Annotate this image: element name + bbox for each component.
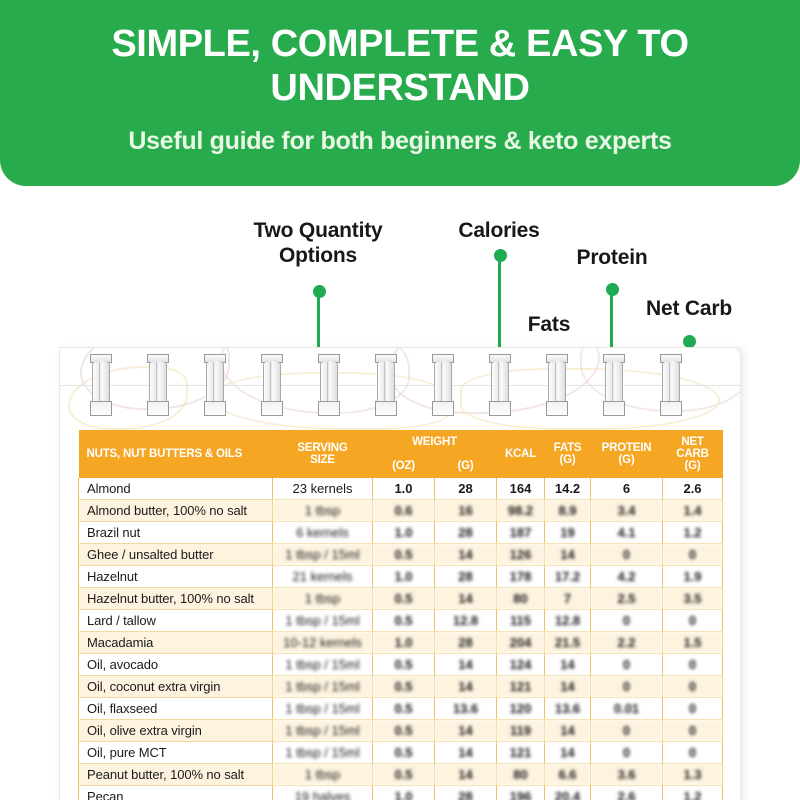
cell-food-name: Oil, pure MCT xyxy=(79,742,273,764)
cell-protein: 2.5 xyxy=(591,588,663,610)
spiral-ring xyxy=(487,354,513,416)
column-header-protein: PROTEIN (G) xyxy=(591,430,663,478)
cell-kcal: 115 xyxy=(497,610,545,632)
cell-fats: 8.9 xyxy=(545,500,591,522)
cell-protein: 0 xyxy=(591,544,663,566)
table-row: Pecan19 halves1.02819620.42.61.2 xyxy=(79,786,723,800)
cell-food-name: Almond xyxy=(79,478,273,500)
cell-food-name: Hazelnut butter, 100% no salt xyxy=(79,588,273,610)
cell-protein: 0 xyxy=(591,676,663,698)
annotation-label-net-carb: Net Carb xyxy=(620,296,758,321)
table-row: Peanut butter, 100% no salt1 tbsp0.51480… xyxy=(79,764,723,786)
cell-g: 14 xyxy=(435,742,497,764)
cell-oz: 1.0 xyxy=(373,786,435,800)
hero-banner: SIMPLE, COMPLETE & EASY TO UNDERSTAND Us… xyxy=(0,0,800,186)
annotation-dot-top-protein xyxy=(606,283,619,296)
spiral-ring xyxy=(88,354,114,416)
cell-netcarb: 1.5 xyxy=(663,632,723,654)
annotation-dot-top-kcal xyxy=(494,249,507,262)
cell-netcarb: 1.2 xyxy=(663,786,723,800)
table-row: Macadamia10-12 kernels1.02820421.52.21.5 xyxy=(79,632,723,654)
nutrition-table: NUTS, NUT BUTTERS & OILS SERVING SIZE WE… xyxy=(78,430,723,800)
cell-protein: 4.1 xyxy=(591,522,663,544)
cell-protein: 3.4 xyxy=(591,500,663,522)
cell-g: 14 xyxy=(435,764,497,786)
cell-netcarb: 0 xyxy=(663,676,723,698)
cell-fats: 14 xyxy=(545,742,591,764)
cell-protein: 0 xyxy=(591,720,663,742)
cell-food-name: Oil, flaxseed xyxy=(79,698,273,720)
page-subtitle: Useful guide for both beginners & keto e… xyxy=(0,126,800,156)
table-row: Hazelnut butter, 100% no salt1 tbsp0.514… xyxy=(79,588,723,610)
cell-g: 12.8 xyxy=(435,610,497,632)
cell-kcal: 80 xyxy=(497,764,545,786)
cell-g: 28 xyxy=(435,632,497,654)
cell-netcarb: 0 xyxy=(663,654,723,676)
cell-protein: 0 xyxy=(591,654,663,676)
spiral-ring xyxy=(373,354,399,416)
cell-serving: 6 kernels xyxy=(273,522,373,544)
cell-fats: 7 xyxy=(545,588,591,610)
spiral-ring xyxy=(316,354,342,416)
table-header-row: NUTS, NUT BUTTERS & OILS SERVING SIZE WE… xyxy=(79,430,723,454)
cell-food-name: Oil, olive extra virgin xyxy=(79,720,273,742)
column-header-serving-size: SERVING SIZE xyxy=(273,430,373,478)
cell-food-name: Peanut butter, 100% no salt xyxy=(79,764,273,786)
table-row: Oil, coconut extra virgin1 tbsp / 15ml0.… xyxy=(79,676,723,698)
table-body: Almond23 kernels1.02816414.262.6Almond b… xyxy=(79,478,723,800)
cell-g: 14 xyxy=(435,544,497,566)
cell-protein: 0 xyxy=(591,610,663,632)
cell-protein: 4.2 xyxy=(591,566,663,588)
cell-netcarb: 0 xyxy=(663,544,723,566)
cell-serving: 1 tbsp / 15ml xyxy=(273,544,373,566)
cell-food-name: Pecan xyxy=(79,786,273,800)
cell-serving: 1 tbsp xyxy=(273,764,373,786)
cell-serving: 19 halves xyxy=(273,786,373,800)
cell-kcal: 187 xyxy=(497,522,545,544)
cell-fats: 20.4 xyxy=(545,786,591,800)
column-header-food: NUTS, NUT BUTTERS & OILS xyxy=(79,430,273,478)
cell-oz: 1.0 xyxy=(373,566,435,588)
cell-food-name: Oil, coconut extra virgin xyxy=(79,676,273,698)
cell-kcal: 119 xyxy=(497,720,545,742)
annotation-label-calories: Calories xyxy=(438,218,560,243)
cell-kcal: 80 xyxy=(497,588,545,610)
spiral-ring xyxy=(202,354,228,416)
cell-kcal: 126 xyxy=(497,544,545,566)
cell-fats: 14 xyxy=(545,654,591,676)
cell-fats: 21.5 xyxy=(545,632,591,654)
cell-serving: 1 tbsp xyxy=(273,588,373,610)
cell-fats: 12.8 xyxy=(545,610,591,632)
cell-food-name: Brazil nut xyxy=(79,522,273,544)
cell-g: 16 xyxy=(435,500,497,522)
cell-netcarb: 3.5 xyxy=(663,588,723,610)
cell-g: 28 xyxy=(435,566,497,588)
cell-oz: 0.5 xyxy=(373,544,435,566)
cell-oz: 1.0 xyxy=(373,632,435,654)
cell-kcal: 204 xyxy=(497,632,545,654)
cell-g: 14 xyxy=(435,588,497,610)
cell-fats: 14.2 xyxy=(545,478,591,500)
cell-serving: 23 kernels xyxy=(273,478,373,500)
cell-protein: 3.6 xyxy=(591,764,663,786)
cell-fats: 13.6 xyxy=(545,698,591,720)
cell-netcarb: 0 xyxy=(663,720,723,742)
cell-serving: 1 tbsp / 15ml xyxy=(273,676,373,698)
cell-fats: 17.2 xyxy=(545,566,591,588)
serving-head-line2: SIZE xyxy=(275,454,371,466)
cell-serving: 1 tbsp / 15ml xyxy=(273,720,373,742)
fats-head-line1: FATS xyxy=(547,442,589,454)
spiral-ring xyxy=(145,354,171,416)
cell-g: 28 xyxy=(435,478,497,500)
nutrition-guide-page: NUTS, NUT BUTTERS & OILS SERVING SIZE WE… xyxy=(60,348,740,800)
spiral-ring xyxy=(259,354,285,416)
cell-kcal: 124 xyxy=(497,654,545,676)
cell-oz: 0.5 xyxy=(373,676,435,698)
cell-netcarb: 1.3 xyxy=(663,764,723,786)
cell-g: 13.6 xyxy=(435,698,497,720)
cell-netcarb: 1.9 xyxy=(663,566,723,588)
cell-oz: 0.5 xyxy=(373,610,435,632)
cell-kcal: 121 xyxy=(497,742,545,764)
annotation-label-fats: Fats xyxy=(500,312,598,337)
cell-fats: 14 xyxy=(545,544,591,566)
cell-kcal: 120 xyxy=(497,698,545,720)
cell-food-name: Oil, avocado xyxy=(79,654,273,676)
fats-head-line2: (G) xyxy=(547,454,589,466)
spiral-ring xyxy=(658,354,684,416)
table-row: Oil, flaxseed1 tbsp / 15ml0.513.612013.6… xyxy=(79,698,723,720)
cell-g: 14 xyxy=(435,676,497,698)
annotation-dot-top-net-carb xyxy=(683,335,696,348)
column-header-net-carb: NET CARB (G) xyxy=(663,430,723,478)
cell-oz: 0.5 xyxy=(373,764,435,786)
netcarb-head-line2: (G) xyxy=(665,460,721,472)
cell-oz: 0.5 xyxy=(373,654,435,676)
cell-oz: 0.5 xyxy=(373,588,435,610)
table-row: Hazelnut21 kernels1.02817817.24.21.9 xyxy=(79,566,723,588)
cell-food-name: Ghee / unsalted butter xyxy=(79,544,273,566)
cell-oz: 0.6 xyxy=(373,500,435,522)
column-header-weight-oz: (OZ) xyxy=(373,454,435,478)
table-row: Ghee / unsalted butter1 tbsp / 15ml0.514… xyxy=(79,544,723,566)
cell-kcal: 164 xyxy=(497,478,545,500)
cell-serving: 21 kernels xyxy=(273,566,373,588)
page-title: SIMPLE, COMPLETE & EASY TO UNDERSTAND xyxy=(0,22,800,110)
annotation-label-protein: Protein xyxy=(552,245,672,270)
cell-oz: 0.5 xyxy=(373,698,435,720)
cell-netcarb: 0 xyxy=(663,698,723,720)
cell-protein: 2.2 xyxy=(591,632,663,654)
cell-serving: 1 tbsp / 15ml xyxy=(273,698,373,720)
cell-fats: 19 xyxy=(545,522,591,544)
netcarb-head-line1: NET CARB xyxy=(665,436,721,460)
cell-fats: 14 xyxy=(545,676,591,698)
cell-fats: 6.6 xyxy=(545,764,591,786)
table-row: Oil, pure MCT1 tbsp / 15ml0.5141211400 xyxy=(79,742,723,764)
column-header-weight-group: WEIGHT xyxy=(373,430,497,454)
cell-g: 28 xyxy=(435,786,497,800)
serving-head-line1: SERVING xyxy=(275,442,371,454)
column-header-weight-g: (G) xyxy=(435,454,497,478)
cell-serving: 10-12 kernels xyxy=(273,632,373,654)
cell-g: 14 xyxy=(435,720,497,742)
cell-food-name: Macadamia xyxy=(79,632,273,654)
cell-oz: 0.5 xyxy=(373,720,435,742)
spiral-ring xyxy=(601,354,627,416)
table-row: Oil, olive extra virgin1 tbsp / 15ml0.51… xyxy=(79,720,723,742)
cell-food-name: Almond butter, 100% no salt xyxy=(79,500,273,522)
table-row: Almond23 kernels1.02816414.262.6 xyxy=(79,478,723,500)
annotation-label-two-quantity-options: Two Quantity Options xyxy=(238,218,398,268)
table-row: Almond butter, 100% no salt1 tbsp0.61698… xyxy=(79,500,723,522)
cell-protein: 0 xyxy=(591,742,663,764)
cell-netcarb: 1.4 xyxy=(663,500,723,522)
cell-netcarb: 1.2 xyxy=(663,522,723,544)
cell-g: 28 xyxy=(435,522,497,544)
protein-head-line2: (G) xyxy=(593,454,661,466)
cell-serving: 1 tbsp / 15ml xyxy=(273,742,373,764)
cell-food-name: Hazelnut xyxy=(79,566,273,588)
table-row: Lard / tallow1 tbsp / 15ml0.512.811512.8… xyxy=(79,610,723,632)
cell-kcal: 98.2 xyxy=(497,500,545,522)
cell-netcarb: 0 xyxy=(663,610,723,632)
cell-oz: 1.0 xyxy=(373,522,435,544)
cell-kcal: 121 xyxy=(497,676,545,698)
annotation-dot-top-serving-size xyxy=(313,285,326,298)
cell-kcal: 178 xyxy=(497,566,545,588)
cell-oz: 1.0 xyxy=(373,478,435,500)
table-row: Brazil nut6 kernels1.028187194.11.2 xyxy=(79,522,723,544)
cell-kcal: 196 xyxy=(497,786,545,800)
table-row: Oil, avocado1 tbsp / 15ml0.5141241400 xyxy=(79,654,723,676)
spiral-ring xyxy=(544,354,570,416)
column-header-kcal: KCAL xyxy=(497,430,545,478)
cell-g: 14 xyxy=(435,654,497,676)
cell-netcarb: 2.6 xyxy=(663,478,723,500)
column-header-fats: FATS (G) xyxy=(545,430,591,478)
cell-serving: 1 tbsp / 15ml xyxy=(273,654,373,676)
protein-head-line1: PROTEIN xyxy=(593,442,661,454)
cell-fats: 14 xyxy=(545,720,591,742)
spiral-ring xyxy=(430,354,456,416)
cell-netcarb: 0 xyxy=(663,742,723,764)
cell-protein: 2.6 xyxy=(591,786,663,800)
cell-serving: 1 tbsp xyxy=(273,500,373,522)
cell-protein: 6 xyxy=(591,478,663,500)
cell-oz: 0.5 xyxy=(373,742,435,764)
cell-protein: 0.01 xyxy=(591,698,663,720)
cell-serving: 1 tbsp / 15ml xyxy=(273,610,373,632)
cell-food-name: Lard / tallow xyxy=(79,610,273,632)
